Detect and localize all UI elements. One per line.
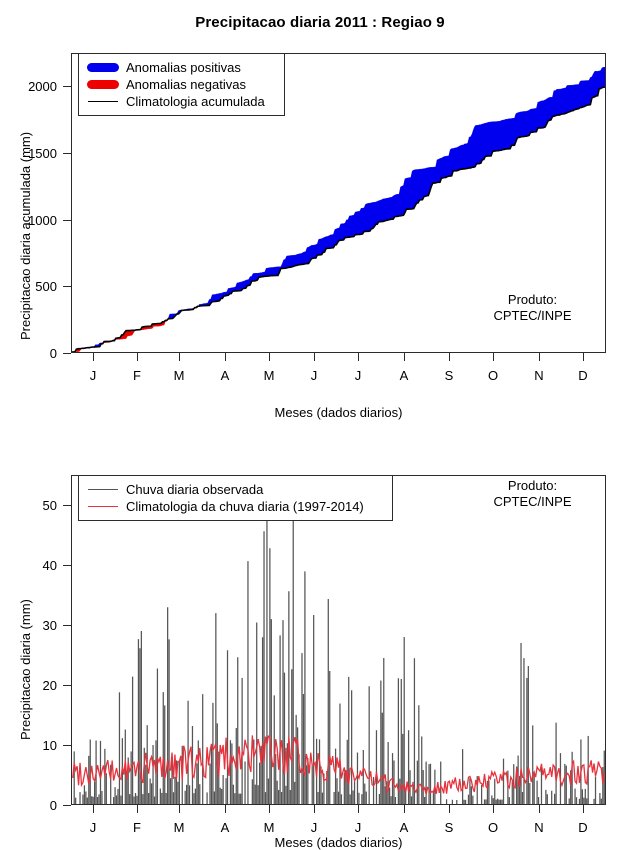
x-tick-mark <box>137 805 138 813</box>
x-tick-label: A <box>384 821 424 834</box>
x-tick-mark <box>493 805 494 813</box>
bottom-y-axis-title: Precipitacao diaria (mm) <box>18 599 33 740</box>
x-tick-mark <box>539 805 540 813</box>
x-tick-mark <box>179 353 180 361</box>
x-tick-label: D <box>563 369 603 382</box>
y-tick-mark <box>63 625 71 626</box>
y-tick-mark <box>63 286 71 287</box>
x-tick-label: J <box>73 369 113 382</box>
cumulative-precipitation-panel: 0500100015002000 JFMAMJJASOND Meses (dad… <box>0 0 640 430</box>
y-tick-label: 40 <box>11 559 57 572</box>
legend-item: Anomalias negativas <box>86 76 276 93</box>
legend-item: Climatologia acumulada <box>86 93 276 110</box>
x-tick-mark <box>449 353 450 361</box>
x-tick-mark <box>404 353 405 361</box>
x-tick-label: S <box>429 369 469 382</box>
y-tick-label: 2000 <box>11 80 57 93</box>
x-tick-label: A <box>384 369 424 382</box>
x-tick-label: J <box>73 821 113 834</box>
produto-line-1: Produto: <box>508 292 557 307</box>
legend-swatch-icon <box>86 80 120 89</box>
x-tick-label: J <box>338 821 378 834</box>
x-tick-mark <box>225 805 226 813</box>
x-tick-label: F <box>117 821 157 834</box>
x-tick-label: D <box>563 821 603 834</box>
observed-daily-spikes <box>74 506 604 804</box>
legend-line-icon <box>86 489 120 490</box>
produto-line-1: Produto: <box>508 478 557 493</box>
x-tick-mark <box>179 805 180 813</box>
bottom-plot-area <box>71 475 606 805</box>
daily-precipitation-panel: 01020304050 JFMAMJJASOND Meses (dados di… <box>0 430 640 850</box>
x-tick-label: F <box>117 369 157 382</box>
x-tick-label: O <box>473 369 513 382</box>
x-tick-label: J <box>294 821 334 834</box>
x-tick-mark <box>314 353 315 361</box>
x-tick-mark <box>358 805 359 813</box>
legend-item-label: Climatologia acumulada <box>120 94 265 109</box>
y-tick-mark <box>63 86 71 87</box>
y-tick-mark <box>63 153 71 154</box>
bottom-legend: Chuva diaria observadaClimatologia da ch… <box>78 475 393 521</box>
legend-swatch-icon <box>86 63 120 72</box>
x-tick-mark <box>269 805 270 813</box>
x-tick-label: J <box>338 369 378 382</box>
produto-line-2: CPTEC/INPE <box>493 308 571 323</box>
x-tick-label: N <box>519 821 559 834</box>
y-tick-mark <box>63 805 71 806</box>
top-x-axis-title: Meses (dados diarios) <box>71 405 606 420</box>
x-tick-mark <box>137 353 138 361</box>
x-tick-mark <box>404 805 405 813</box>
x-tick-label: M <box>159 821 199 834</box>
x-tick-mark <box>493 353 494 361</box>
x-tick-label: O <box>473 821 513 834</box>
legend-item-label: Chuva diaria observada <box>120 482 263 497</box>
legend-item-label: Anomalias positivas <box>120 60 241 75</box>
x-tick-mark <box>583 353 584 361</box>
y-tick-mark <box>63 745 71 746</box>
legend-item: Chuva diaria observada <box>86 481 384 498</box>
legend-item-label: Climatologia da chuva diaria (1997-2014) <box>120 499 364 514</box>
x-tick-mark <box>539 353 540 361</box>
legend-line-icon <box>86 101 120 102</box>
legend-item: Climatologia da chuva diaria (1997-2014) <box>86 498 384 515</box>
x-tick-mark <box>269 353 270 361</box>
y-tick-mark <box>63 353 71 354</box>
y-tick-label: 10 <box>11 739 57 752</box>
x-tick-mark <box>93 353 94 361</box>
daily-rain-chart <box>72 476 605 804</box>
x-tick-mark <box>449 805 450 813</box>
bottom-x-axis-title: Meses (dados diarios) <box>71 835 606 850</box>
x-tick-label: N <box>519 369 559 382</box>
legend-item: Anomalias positivas <box>86 59 276 76</box>
precipitation-report-page: Precipitacao diaria 2011 : Regiao 9 0500… <box>0 0 640 850</box>
x-tick-mark <box>93 805 94 813</box>
y-tick-mark <box>63 685 71 686</box>
y-tick-mark <box>63 565 71 566</box>
x-tick-label: J <box>294 369 334 382</box>
top-legend: Anomalias positivasAnomalias negativasCl… <box>78 53 285 116</box>
x-tick-mark <box>225 353 226 361</box>
bottom-produto-annotation: Produto: CPTEC/INPE <box>470 478 595 510</box>
x-tick-mark <box>583 805 584 813</box>
x-tick-mark <box>358 353 359 361</box>
x-tick-label: M <box>249 821 289 834</box>
x-tick-label: M <box>249 369 289 382</box>
legend-item-label: Anomalias negativas <box>120 77 246 92</box>
y-tick-label: 50 <box>11 499 57 512</box>
y-tick-label: 0 <box>11 799 57 812</box>
x-tick-mark <box>314 805 315 813</box>
y-tick-mark <box>63 505 71 506</box>
top-produto-annotation: Produto: CPTEC/INPE <box>470 292 595 324</box>
y-tick-mark <box>63 220 71 221</box>
x-tick-label: A <box>205 821 245 834</box>
produto-line-2: CPTEC/INPE <box>493 494 571 509</box>
top-y-axis-title: Precipitacao diaria acumulada (mm) <box>18 132 33 340</box>
y-tick-label: 0 <box>11 347 57 360</box>
x-tick-label: S <box>429 821 469 834</box>
x-tick-label: M <box>159 369 199 382</box>
legend-line-icon <box>86 506 120 507</box>
x-tick-label: A <box>205 369 245 382</box>
